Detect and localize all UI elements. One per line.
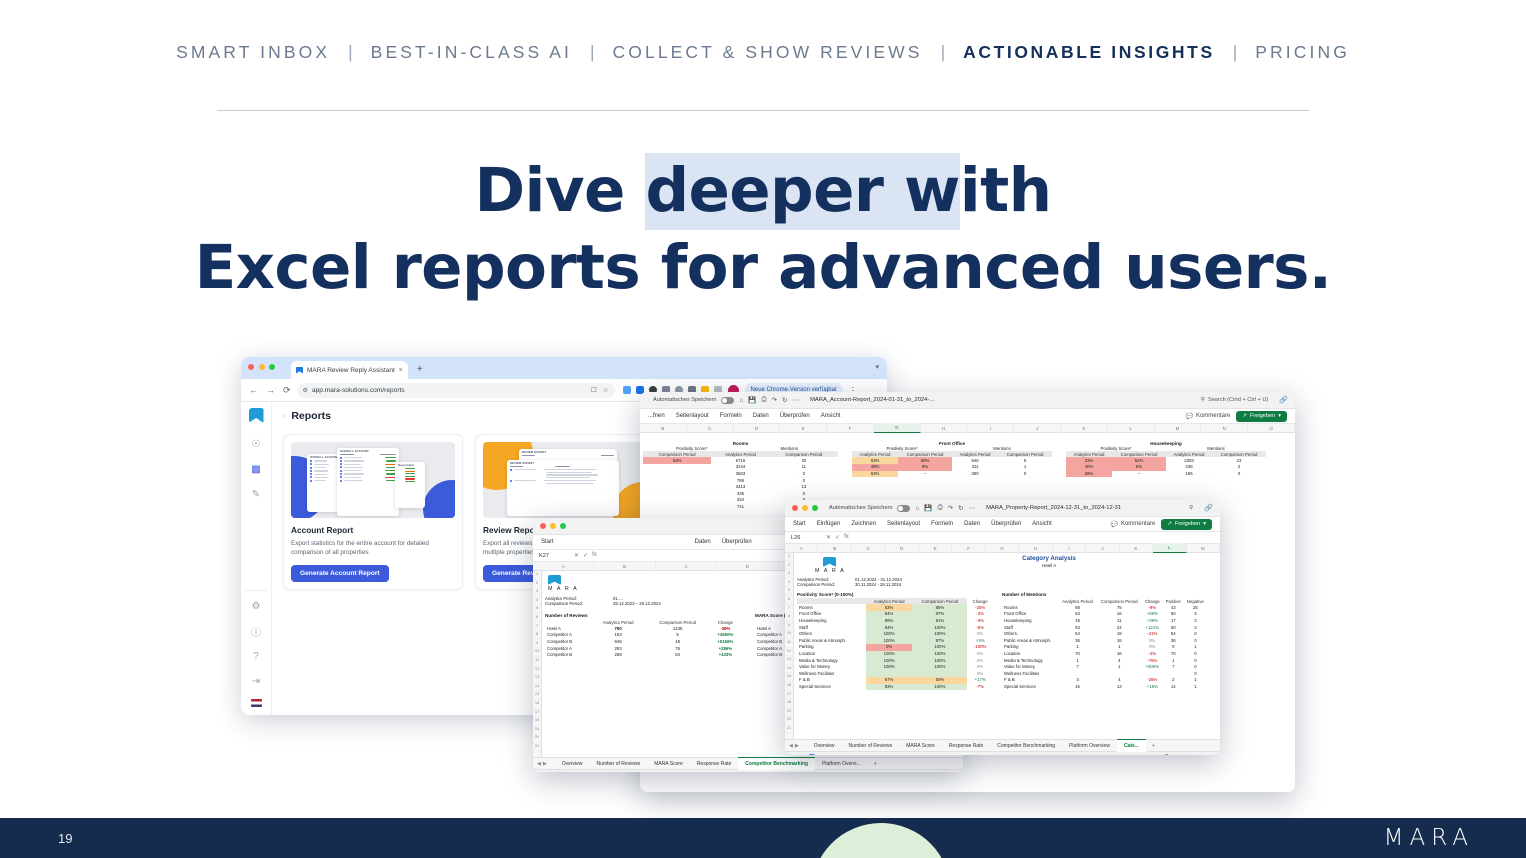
ribbon-tab-ueberpruefen[interactable]: Überprüfen bbox=[780, 413, 810, 419]
name-box[interactable]: L26 bbox=[791, 535, 821, 541]
col-F[interactable]: F bbox=[827, 424, 874, 433]
sheet-tab-competitor-benchmarking[interactable]: Competitor Benchmarking bbox=[990, 740, 1062, 752]
cell-pos-comparison: 100% bbox=[912, 644, 967, 651]
sidebar-item-logout[interactable]: ⇥ bbox=[249, 674, 264, 689]
row-dot bbox=[310, 463, 312, 465]
mara-logo-icon[interactable] bbox=[249, 408, 264, 423]
mini-row bbox=[337, 457, 399, 459]
add-sheet-button[interactable]: + bbox=[868, 761, 883, 767]
sheet-tab-mara-score[interactable]: MARA Score bbox=[899, 740, 942, 752]
extension-icon-1[interactable] bbox=[623, 386, 631, 394]
mini-row bbox=[337, 470, 399, 472]
cell-positive: 14 bbox=[1163, 684, 1184, 691]
link-icon[interactable]: 🔗 bbox=[1204, 504, 1213, 512]
col-D[interactable]: D bbox=[734, 424, 781, 433]
ribbon-tab-seitenlayout[interactable]: Seitenlayout bbox=[676, 413, 709, 419]
row-14[interactable]: 14 bbox=[533, 683, 541, 692]
quick-access-toolbar[interactable]: ⌂ 💾 ⎙ ↷ ↻ ⋯ bbox=[739, 396, 799, 404]
status-right: ▦ ▣ ▤ − + 100 % bbox=[1107, 754, 1214, 755]
cell-pos-comparison: 100% bbox=[912, 657, 967, 664]
col-L[interactable]: L bbox=[1153, 543, 1186, 553]
home-icon[interactable]: ⌂ bbox=[739, 397, 743, 404]
share-button[interactable]: ↗Freigeben▾ bbox=[1236, 411, 1287, 422]
row-11[interactable]: 11 bbox=[533, 657, 541, 666]
mini-col-head bbox=[519, 455, 617, 456]
more-icon[interactable]: ⋯ bbox=[969, 504, 976, 512]
th-comparison-period: Comparison Period bbox=[1097, 598, 1142, 604]
cell-pos-a: 63% bbox=[852, 457, 898, 464]
cell-men-analytics: 1 bbox=[1058, 644, 1096, 651]
card-title: Account Report bbox=[291, 525, 455, 535]
new-tab-button[interactable]: + bbox=[417, 361, 423, 379]
cell-pos-change: -3% bbox=[967, 618, 993, 625]
row-2[interactable]: 2 bbox=[785, 562, 793, 571]
language-flag-icon[interactable] bbox=[251, 699, 262, 707]
cell-positive: 50 bbox=[1163, 624, 1184, 631]
row-13[interactable]: 13 bbox=[533, 674, 541, 683]
row-12[interactable]: 12 bbox=[785, 648, 793, 657]
ribbon-tab-ueberpruefen[interactable]: Überprüfen bbox=[722, 539, 752, 545]
row-17[interactable]: 17 bbox=[785, 691, 793, 700]
cell-pos bbox=[643, 497, 711, 504]
row-10[interactable]: 10 bbox=[533, 648, 541, 657]
ribbon-tab-start[interactable]: Start bbox=[541, 539, 554, 545]
row-10[interactable]: 10 bbox=[785, 630, 793, 639]
comment-icon: 💬 bbox=[1185, 413, 1192, 420]
cancel-icon[interactable]: ✕ bbox=[826, 534, 831, 541]
cancel-icon[interactable]: ✕ bbox=[574, 552, 579, 559]
cell-pos-analytics: 93% bbox=[866, 684, 913, 691]
col-A[interactable]: A bbox=[533, 562, 594, 571]
cell-category: Rooms bbox=[797, 604, 866, 611]
ribbon-tab-ansicht[interactable]: Ansicht bbox=[821, 413, 841, 419]
cell-pos-a: 40% bbox=[1066, 464, 1112, 471]
col-B[interactable]: B bbox=[594, 562, 655, 571]
confirm-icon[interactable]: ✓ bbox=[835, 534, 840, 541]
row-1[interactable]: 1 bbox=[785, 553, 793, 562]
row-6[interactable]: 6 bbox=[533, 614, 541, 623]
sheet-tab-platform-overview[interactable]: Platform Overview bbox=[1062, 740, 1117, 752]
nav-item-actionable-insights[interactable]: ACTIONABLE INSIGHTS bbox=[961, 42, 1217, 63]
generate-account-report-button[interactable]: Generate Account Report bbox=[291, 565, 389, 582]
col-H[interactable]: H bbox=[921, 424, 968, 433]
row-18[interactable]: 18 bbox=[533, 717, 541, 726]
forward-icon[interactable]: → bbox=[266, 386, 275, 395]
save-icon[interactable]: 💾 bbox=[748, 396, 756, 404]
cell-analytics: 790 bbox=[591, 625, 646, 632]
sheet-tab-overview[interactable]: Overview bbox=[807, 740, 842, 752]
sidebar-item-settings[interactable]: ⚙ bbox=[249, 599, 264, 614]
minimize-dot[interactable] bbox=[550, 523, 556, 529]
row-16[interactable]: 16 bbox=[533, 700, 541, 709]
window-controls[interactable] bbox=[248, 364, 275, 370]
nav-divider bbox=[217, 110, 1309, 111]
cell-men-comparison: 4 bbox=[1097, 657, 1142, 664]
home-icon[interactable]: ⌂ bbox=[915, 505, 919, 512]
cell-men-analytics: 15 bbox=[1058, 684, 1096, 691]
col-E[interactable]: E bbox=[780, 424, 827, 433]
table-row: 7890 bbox=[643, 477, 838, 484]
col-F[interactable]: F bbox=[952, 544, 985, 553]
comments-button[interactable]: 💬Kommentare bbox=[1110, 521, 1155, 528]
maximize-dot[interactable] bbox=[269, 364, 275, 370]
maximize-dot[interactable] bbox=[560, 523, 566, 529]
row-dot bbox=[310, 476, 312, 478]
table-row: Rooms6875-9%4325 bbox=[1002, 604, 1207, 611]
cell-category: Parking bbox=[797, 644, 866, 651]
review-text bbox=[544, 469, 596, 470]
meta-value: 29.12.2023 – 28.12.2024 bbox=[613, 601, 661, 606]
nav-separator: | bbox=[574, 42, 611, 63]
cell-mentions-c: 13 bbox=[770, 484, 838, 491]
row-3[interactable]: 3 bbox=[785, 570, 793, 579]
th-positive: Positive bbox=[1163, 598, 1184, 604]
cell-name: Competitor B bbox=[545, 639, 591, 646]
table-row: Competitor B28854+433% bbox=[545, 652, 741, 659]
address-bar[interactable]: ⚙ app.mara-solutions.com/reports ☐☆ bbox=[297, 383, 615, 398]
row-21[interactable]: 21 bbox=[785, 725, 793, 734]
ribbon-tab-zeichnen[interactable]: Zeichnen bbox=[851, 521, 876, 527]
window-controls[interactable] bbox=[792, 505, 818, 511]
cell-mentions-c: 11 bbox=[770, 464, 838, 471]
autosave-toggle[interactable] bbox=[721, 397, 734, 404]
sheet-tab-response-rate[interactable]: Response Rate bbox=[942, 740, 990, 752]
col-K[interactable]: K bbox=[1120, 544, 1153, 553]
table-row: Wellness Facilities0 bbox=[1002, 670, 1207, 677]
row-7[interactable]: 7 bbox=[533, 623, 541, 632]
brand-block: M A R A bbox=[797, 555, 907, 574]
cell-negative: 0 bbox=[1184, 664, 1207, 671]
accessibility-icon[interactable]: ♿ bbox=[809, 754, 815, 755]
sidebar-item-edit[interactable]: ✎ bbox=[249, 487, 264, 502]
excel-filename[interactable]: MARA_Account-Report_2024-01-31_to_2024-.… bbox=[810, 397, 934, 403]
nav-item-pricing[interactable]: PRICING bbox=[1253, 42, 1352, 63]
row-bar bbox=[344, 473, 364, 474]
row-16[interactable]: 16 bbox=[785, 682, 793, 691]
col-A[interactable]: A bbox=[785, 544, 818, 553]
row-9[interactable]: 9 bbox=[533, 640, 541, 649]
row-11[interactable]: 11 bbox=[785, 639, 793, 648]
ribbon-tab-einfuegen[interactable]: Einfügen bbox=[817, 521, 841, 527]
cell-pos-analytics: 100% bbox=[866, 664, 913, 671]
print-icon[interactable]: ⎙ bbox=[937, 504, 942, 512]
mini-row bbox=[395, 471, 425, 472]
cell-positive: 2 bbox=[1163, 677, 1184, 684]
cell-men-change: 0% bbox=[1142, 644, 1163, 651]
redo-icon[interactable]: ↻ bbox=[958, 504, 963, 512]
undo-icon[interactable]: ↷ bbox=[772, 396, 777, 404]
ribbon-tab-daten[interactable]: Daten bbox=[964, 521, 980, 527]
cell-pos-change: +3% bbox=[967, 637, 993, 644]
share-button[interactable]: ↗Freigeben▾ bbox=[1161, 519, 1212, 530]
page-layout-icon[interactable]: ▣ bbox=[1116, 754, 1120, 755]
cell-positive: 7 bbox=[1163, 664, 1184, 671]
section-title: Number of Reviews bbox=[545, 613, 741, 618]
table-row: Competitor A1835+3560% bbox=[545, 632, 741, 639]
cell-category: Public Areas & Atmosph. bbox=[1002, 637, 1058, 644]
table-row: Front Office5316+69%503 bbox=[1002, 611, 1207, 618]
fx-icon[interactable]: fx bbox=[844, 534, 849, 541]
row-7[interactable]: 7 bbox=[785, 605, 793, 614]
cell-analytics: 288 bbox=[591, 652, 646, 659]
sidebar-item-info[interactable]: ⓘ bbox=[249, 624, 264, 639]
col-head-property bbox=[510, 466, 523, 467]
table-row: Staff5324+121%503 bbox=[1002, 624, 1207, 631]
ribbon-tab-daten[interactable]: Daten bbox=[695, 539, 711, 545]
row-dot bbox=[340, 466, 342, 468]
sheet-nav-arrows[interactable]: ◀▶ bbox=[789, 743, 801, 749]
headline-line-2: Excel reports for advanced users. bbox=[0, 229, 1526, 306]
sidebar-item-analytics[interactable]: ▩ bbox=[249, 462, 264, 477]
add-sheet-button[interactable]: + bbox=[1146, 743, 1161, 749]
col-J[interactable]: J bbox=[1086, 544, 1119, 553]
row-8[interactable]: 8 bbox=[785, 613, 793, 622]
browser-tab[interactable]: MARA Review Reply Assistant × bbox=[291, 361, 408, 379]
excel-title-bar: Automatisches Speichern ⌂ 💾 ⎙ ↷ ↻ ⋯ MARA… bbox=[785, 500, 1220, 517]
browser-tab-title: MARA Review Reply Assistant bbox=[307, 367, 395, 374]
col-M[interactable]: M bbox=[1187, 544, 1220, 553]
minimize-dot[interactable] bbox=[802, 505, 808, 511]
ribbon-tab-0[interactable]: ...fnen bbox=[648, 413, 665, 419]
sheet-tab-mara-score[interactable]: MARA Score bbox=[647, 758, 690, 770]
ribbon-tab-start[interactable]: Start bbox=[793, 521, 806, 527]
close-dot[interactable] bbox=[248, 364, 254, 370]
excel-search[interactable]: ⚲Search (Cmd + Ctrl + U) bbox=[1201, 397, 1268, 403]
maximize-dot[interactable] bbox=[812, 505, 818, 511]
cell-pos bbox=[643, 504, 711, 511]
ribbon-tab-formeln[interactable]: Formeln bbox=[931, 521, 953, 527]
col-K[interactable]: K bbox=[1061, 424, 1108, 433]
cell-category: Parking bbox=[1002, 644, 1058, 651]
cell-positive: 1 bbox=[1163, 657, 1184, 664]
sidebar-item-inbox[interactable]: ☉ bbox=[249, 437, 264, 452]
table-row: Location7016-4%700 bbox=[1002, 651, 1207, 658]
sheet-nav-arrows[interactable]: ◀▶ bbox=[537, 761, 549, 767]
reload-icon[interactable]: ⟳ bbox=[283, 386, 291, 395]
subhead-row: Positivity Score* Mentions bbox=[1066, 446, 1266, 451]
cell-pos-comparison: 91% bbox=[912, 618, 967, 625]
undo-icon[interactable]: ↷ bbox=[948, 504, 953, 512]
close-dot[interactable] bbox=[792, 505, 798, 511]
row-15[interactable]: 15 bbox=[785, 673, 793, 682]
cell-pos-analytics: 63% bbox=[866, 604, 913, 611]
back-icon[interactable]: ← bbox=[249, 386, 258, 395]
sheet-tab-competitor-benchmarking[interactable]: Competitor Benchmarking bbox=[738, 757, 815, 770]
status-accessibility[interactable]: Barrierefreiheit: Untersuchen bbox=[821, 755, 880, 756]
cell-positive: 54 bbox=[1163, 631, 1184, 638]
print-icon[interactable]: ⎙ bbox=[761, 396, 766, 404]
row-2[interactable]: 2 bbox=[533, 580, 541, 589]
row-12[interactable]: 12 bbox=[533, 666, 541, 675]
excel-filename[interactable]: MARA_Property-Report_2024-12-31_to_2024-… bbox=[986, 505, 1121, 511]
row-19[interactable]: 19 bbox=[533, 726, 541, 735]
fx-icon[interactable]: fx bbox=[592, 552, 597, 559]
cell-pos bbox=[643, 484, 711, 491]
omnibox-actions[interactable]: ☐☆ bbox=[591, 386, 609, 394]
col-J[interactable]: J bbox=[1014, 424, 1061, 433]
front-tables: Positivity Score* (0-100%) Analytics Per… bbox=[797, 592, 1217, 690]
more-icon[interactable]: ⋯ bbox=[793, 396, 800, 404]
sheet-tab-category-analysis[interactable]: Cate... bbox=[1117, 739, 1146, 752]
row-1[interactable]: 1 bbox=[533, 571, 541, 580]
cell-men-change: 0% bbox=[1142, 637, 1163, 644]
cell-mentions-a: 3603 bbox=[711, 471, 769, 478]
nav-item-smart-inbox[interactable]: SMART INBOX bbox=[174, 42, 332, 63]
col-L[interactable]: L bbox=[1108, 424, 1155, 433]
link-icon[interactable]: 🔗 bbox=[1279, 396, 1288, 404]
ribbon-tab-ueberpruefen[interactable]: Überprüfen bbox=[991, 521, 1021, 527]
row-bar bbox=[344, 460, 364, 461]
row-9[interactable]: 9 bbox=[785, 622, 793, 631]
cell-men-a: 2303 bbox=[1166, 457, 1212, 464]
card-account-report[interactable]: OVERALL ACCOUNT bbox=[283, 434, 463, 590]
bookmark-star-icon[interactable]: ☆ bbox=[603, 386, 609, 394]
col-I[interactable]: I bbox=[967, 424, 1014, 433]
row-bar bbox=[344, 477, 361, 478]
formula-controls[interactable]: ✕✓fx bbox=[826, 534, 849, 541]
row-value bbox=[385, 457, 396, 458]
chevron-down-icon: ▾ bbox=[1203, 521, 1206, 527]
page-headline: Dive deeper with Excel reports for advan… bbox=[0, 152, 1526, 306]
confirm-icon[interactable]: ✓ bbox=[583, 552, 588, 559]
redo-icon[interactable]: ↻ bbox=[782, 396, 787, 404]
row-5[interactable]: 5 bbox=[785, 587, 793, 596]
cell-men-c: 1 bbox=[998, 464, 1052, 471]
chevron-down-icon[interactable]: ▾ bbox=[875, 363, 879, 371]
window-controls[interactable] bbox=[540, 523, 566, 529]
zoom-out-icon[interactable]: − bbox=[1135, 755, 1138, 756]
row-value bbox=[405, 468, 415, 469]
ribbon-tab-daten[interactable]: Daten bbox=[753, 413, 769, 419]
sidebar-item-help[interactable]: ? bbox=[249, 649, 264, 664]
row-19[interactable]: 19 bbox=[785, 708, 793, 717]
row-20[interactable]: 20 bbox=[533, 734, 541, 743]
col-H[interactable]: H bbox=[1019, 544, 1052, 553]
row-15[interactable]: 15 bbox=[533, 691, 541, 700]
row-8[interactable]: 8 bbox=[533, 631, 541, 640]
col-I[interactable]: I bbox=[1053, 544, 1086, 553]
col-G[interactable]: G bbox=[874, 423, 921, 433]
cell-pos-comparison: 100% bbox=[912, 631, 967, 638]
row-6[interactable]: 6 bbox=[785, 596, 793, 605]
normal-view-icon[interactable]: ▦ bbox=[1107, 754, 1111, 755]
comments-label: Kommentare bbox=[1196, 413, 1230, 419]
mini-row bbox=[337, 460, 399, 462]
zoom-level[interactable]: 100 % bbox=[1201, 755, 1214, 756]
table-row: Parking110%01 bbox=[1002, 644, 1207, 651]
row-dot bbox=[310, 480, 312, 482]
row-5[interactable]: 5 bbox=[533, 605, 541, 614]
row-17[interactable]: 17 bbox=[533, 709, 541, 718]
page-break-icon[interactable]: ▤ bbox=[1125, 754, 1129, 755]
excel-grid: 12 34 56 78 910 1112 1314 1516 1718 1920… bbox=[785, 553, 1220, 739]
row-13[interactable]: 13 bbox=[785, 656, 793, 665]
table-row: Location100%100%0% bbox=[797, 651, 993, 658]
zoom-in-icon[interactable]: + bbox=[1193, 755, 1196, 756]
nav-item-best-in-class-ai[interactable]: BEST-IN-CLASS AI bbox=[369, 42, 574, 63]
cell-pos-analytics: 67% bbox=[866, 677, 913, 684]
cell-category: Location bbox=[1002, 651, 1058, 658]
decor-blob-blue-2 bbox=[423, 480, 455, 518]
row-21[interactable]: 21 bbox=[533, 743, 541, 752]
save-icon[interactable]: 💾 bbox=[924, 504, 932, 512]
col-C[interactable]: C bbox=[687, 424, 734, 433]
row-value bbox=[405, 471, 415, 472]
col-E[interactable]: E bbox=[919, 544, 952, 553]
excel-search[interactable]: ⚲ bbox=[1189, 505, 1193, 511]
close-icon[interactable]: × bbox=[399, 367, 403, 374]
mara-brand-logo: MARA bbox=[1384, 825, 1474, 851]
top-navigation: SMART INBOX | BEST-IN-CLASS AI | COLLECT… bbox=[0, 42, 1526, 63]
close-dot[interactable] bbox=[540, 523, 546, 529]
ribbon-tab-ansicht[interactable]: Ansicht bbox=[1032, 521, 1052, 527]
minimize-dot[interactable] bbox=[259, 364, 265, 370]
row-4[interactable]: 4 bbox=[533, 597, 541, 606]
table-row: Others5418-41%540 bbox=[1002, 631, 1207, 638]
sheet-tab-response-rate[interactable]: Response Rate bbox=[690, 758, 738, 770]
browser-nav-buttons[interactable]: ← → ⟳ bbox=[249, 386, 291, 395]
row-3[interactable]: 3 bbox=[533, 588, 541, 597]
cell-analytics: 183 bbox=[591, 632, 646, 639]
col-G[interactable]: G bbox=[986, 544, 1019, 553]
cell-men-change: +69% bbox=[1142, 611, 1163, 618]
col-D[interactable]: D bbox=[717, 562, 778, 571]
cell-pos-comparison: 100% bbox=[912, 624, 967, 631]
row-20[interactable]: 20 bbox=[785, 716, 793, 725]
col-C[interactable]: C bbox=[852, 544, 885, 553]
split-screen-icon[interactable]: ☐ bbox=[591, 386, 597, 394]
sheet-tab-overview[interactable]: Overview bbox=[555, 758, 590, 770]
name-box[interactable]: K27 bbox=[539, 553, 569, 559]
col-N[interactable]: N bbox=[1201, 424, 1248, 433]
row-dot bbox=[310, 467, 312, 469]
site-info-icon[interactable]: ⚙ bbox=[303, 387, 308, 394]
formula-controls[interactable]: ✕✓fx bbox=[574, 552, 597, 559]
quick-access-toolbar[interactable]: ⌂ 💾 ⎙ ↷ ↻ ⋯ bbox=[915, 504, 975, 512]
col-M[interactable]: M bbox=[1155, 424, 1202, 433]
ribbon-tab-formeln[interactable]: Formeln bbox=[720, 413, 742, 419]
col-D[interactable]: D bbox=[885, 544, 918, 553]
row-dot bbox=[310, 473, 312, 475]
table-row: 4350 bbox=[643, 490, 838, 497]
col-B[interactable]: B bbox=[640, 424, 687, 433]
ribbon-tab-seitenlayout[interactable]: Seitenlayout bbox=[887, 521, 920, 527]
col-B[interactable]: B bbox=[818, 544, 851, 553]
cell-pos-comparison: 97% bbox=[912, 611, 967, 618]
cell-pos bbox=[643, 490, 711, 497]
row-14[interactable]: 14 bbox=[785, 665, 793, 674]
cell-men-c: 0 bbox=[998, 471, 1052, 478]
col-C[interactable]: C bbox=[656, 562, 717, 571]
sheet-tab-number-of-reviews[interactable]: Number of Reviews bbox=[842, 740, 900, 752]
cell-category: Public Areas & Atmosph. bbox=[797, 637, 866, 644]
cell-pos-change: -100% bbox=[967, 644, 993, 651]
sheet-tab-platform-overview[interactable]: Platform Overvi... bbox=[815, 758, 868, 770]
cell-comparison: 5 bbox=[646, 632, 710, 639]
cell-category: Media & Technology bbox=[797, 657, 866, 664]
mini-row bbox=[337, 463, 399, 465]
sheet-tab-number-of-reviews[interactable]: Number of Reviews bbox=[590, 758, 648, 770]
row-18[interactable]: 18 bbox=[785, 699, 793, 708]
cell-pos-comparison: 88% bbox=[912, 604, 967, 611]
autosave-toggle[interactable] bbox=[897, 505, 910, 512]
comments-button[interactable]: 💬Kommentare bbox=[1185, 413, 1230, 420]
row-4[interactable]: 4 bbox=[785, 579, 793, 588]
mockup-stage: MARA Review Reply Assistant × + ▾ ← → ⟳ … bbox=[0, 340, 1526, 810]
nav-item-collect-show-reviews[interactable]: COLLECT & SHOW REVIEWS bbox=[611, 42, 925, 63]
col-O[interactable]: O bbox=[1248, 424, 1295, 433]
excel-sheet-tabs: ◀▶ Overview Number of Reviews MARA Score… bbox=[533, 757, 963, 769]
